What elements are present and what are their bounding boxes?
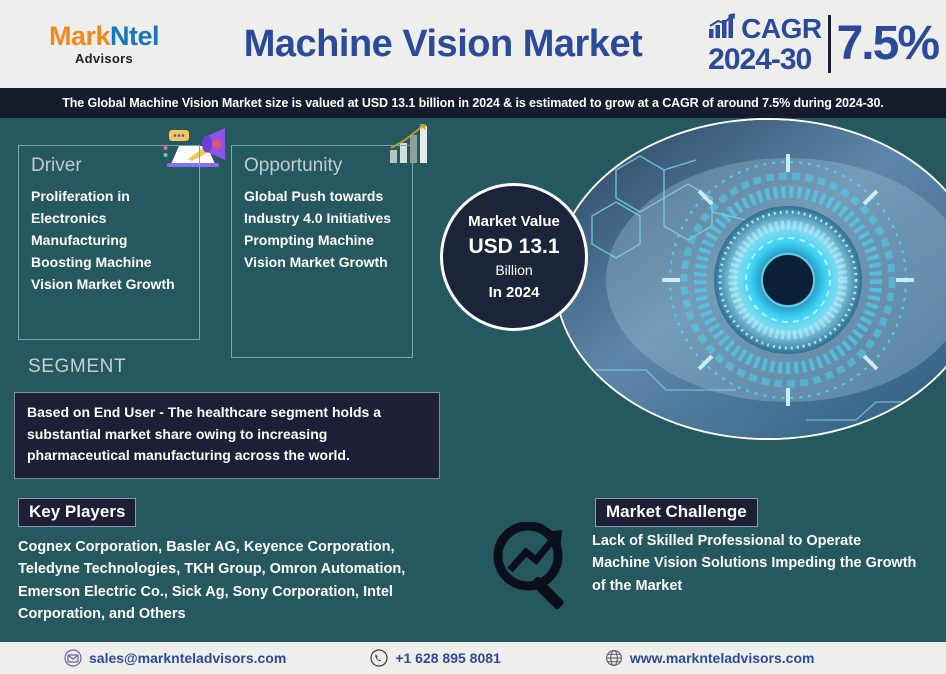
footer-email-text: sales@marknteladvisors.com: [89, 650, 286, 666]
footer-website[interactable]: www.marknteladvisors.com: [605, 649, 815, 667]
driver-card-title: Driver: [31, 156, 187, 175]
subtitle-text: The Global Machine Vision Market size is…: [62, 96, 884, 110]
cagr-label-row: CAGR: [708, 13, 821, 43]
market-challenge-heading: Market Challenge: [595, 498, 758, 527]
body-area: Driver Proliferation in Electronics Manu…: [0, 118, 946, 642]
logo-wordmark: MarkNtel: [49, 23, 159, 50]
logo-text-mark: Mark: [49, 21, 110, 51]
cagr-block: CAGR 2024-30 7.5%: [696, 13, 946, 75]
opportunity-card: Opportunity Global Push towards Industry…: [231, 145, 413, 358]
footer-website-text: www.marknteladvisors.com: [630, 650, 815, 666]
footer-bar: sales@marknteladvisors.com +1 628 895 80…: [0, 642, 946, 674]
bar-chart-growth-icon: [708, 13, 738, 43]
cagr-years: 2024-30: [708, 45, 811, 75]
market-value-unit: Billion: [495, 262, 532, 278]
logo-tagline: Advisors: [75, 51, 133, 66]
header-bar: MarkNtel Advisors Machine Vision Market: [0, 0, 946, 88]
key-players-heading: Key Players: [18, 498, 136, 527]
segment-box: Based on End User - The healthcare segme…: [14, 392, 440, 479]
subtitle-bar: The Global Machine Vision Market size is…: [0, 88, 946, 118]
opportunity-card-text: Global Push towards Industry 4.0 Initiat…: [244, 185, 400, 273]
cagr-label: CAGR: [741, 15, 821, 43]
page-title: Machine Vision Market: [200, 23, 696, 66]
segment-text: Based on End User - The healthcare segme…: [27, 402, 427, 467]
driver-card-text: Proliferation in Electronics Manufacturi…: [31, 185, 187, 296]
envelope-icon: [64, 649, 82, 667]
footer-phone[interactable]: +1 628 895 8081: [370, 649, 501, 667]
logo-text-ntel: Ntel: [110, 21, 159, 51]
footer-phone-text: +1 628 895 8081: [395, 650, 501, 666]
phone-icon: [370, 649, 388, 667]
company-logo[interactable]: MarkNtel Advisors: [0, 23, 200, 66]
market-value-year: In 2024: [489, 284, 540, 301]
driver-card: Driver Proliferation in Electronics Manu…: [18, 145, 200, 340]
market-value-label: Market Value: [468, 213, 560, 230]
hero-eye-image: [554, 118, 946, 440]
market-challenge-text: Lack of Skilled Professional to Operate …: [592, 530, 922, 597]
cagr-value: 7.5%: [837, 20, 938, 68]
globe-icon: [605, 649, 623, 667]
footer-email[interactable]: sales@marknteladvisors.com: [64, 649, 286, 667]
cagr-left-group: CAGR 2024-30: [708, 13, 821, 75]
market-value-badge: Market Value USD 13.1 Billion In 2024: [440, 183, 588, 331]
segment-heading: SEGMENT: [28, 356, 126, 378]
key-players-text: Cognex Corporation, Basler AG, Keyence C…: [18, 536, 458, 626]
infographic-root: MarkNtel Advisors Machine Vision Market: [0, 0, 946, 674]
market-value-amount: USD 13.1: [468, 235, 559, 259]
cagr-divider: [828, 15, 831, 73]
opportunity-card-title: Opportunity: [244, 156, 400, 175]
magnifier-growth-arrow-icon: [490, 522, 582, 610]
